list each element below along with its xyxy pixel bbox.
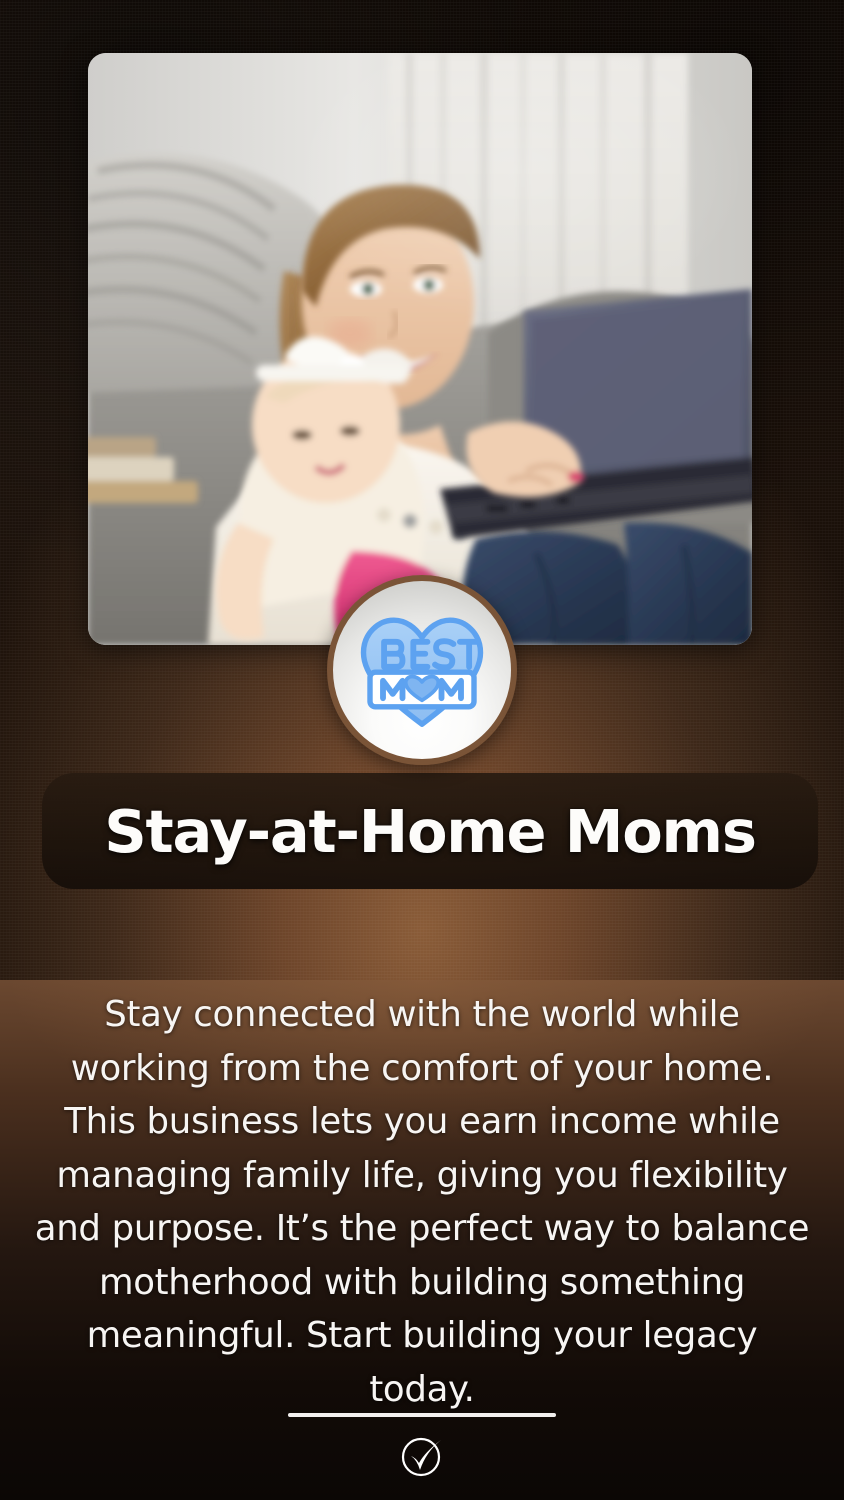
page-title: Stay-at-Home Moms bbox=[104, 797, 756, 866]
slide-card: Stay-at-Home Moms Stay connected with th… bbox=[0, 0, 844, 1500]
check-circle-glyph bbox=[397, 1430, 447, 1480]
hero-photo bbox=[88, 53, 752, 645]
best-mom-heart-icon bbox=[357, 605, 487, 735]
check-circle-icon bbox=[397, 1430, 447, 1480]
footer-divider bbox=[288, 1413, 556, 1417]
best-mom-badge bbox=[327, 575, 517, 765]
hero-photo-illustration bbox=[88, 53, 752, 645]
title-plate: Stay-at-Home Moms bbox=[42, 773, 818, 889]
body-paragraph: Stay connected with the world while work… bbox=[34, 988, 810, 1416]
